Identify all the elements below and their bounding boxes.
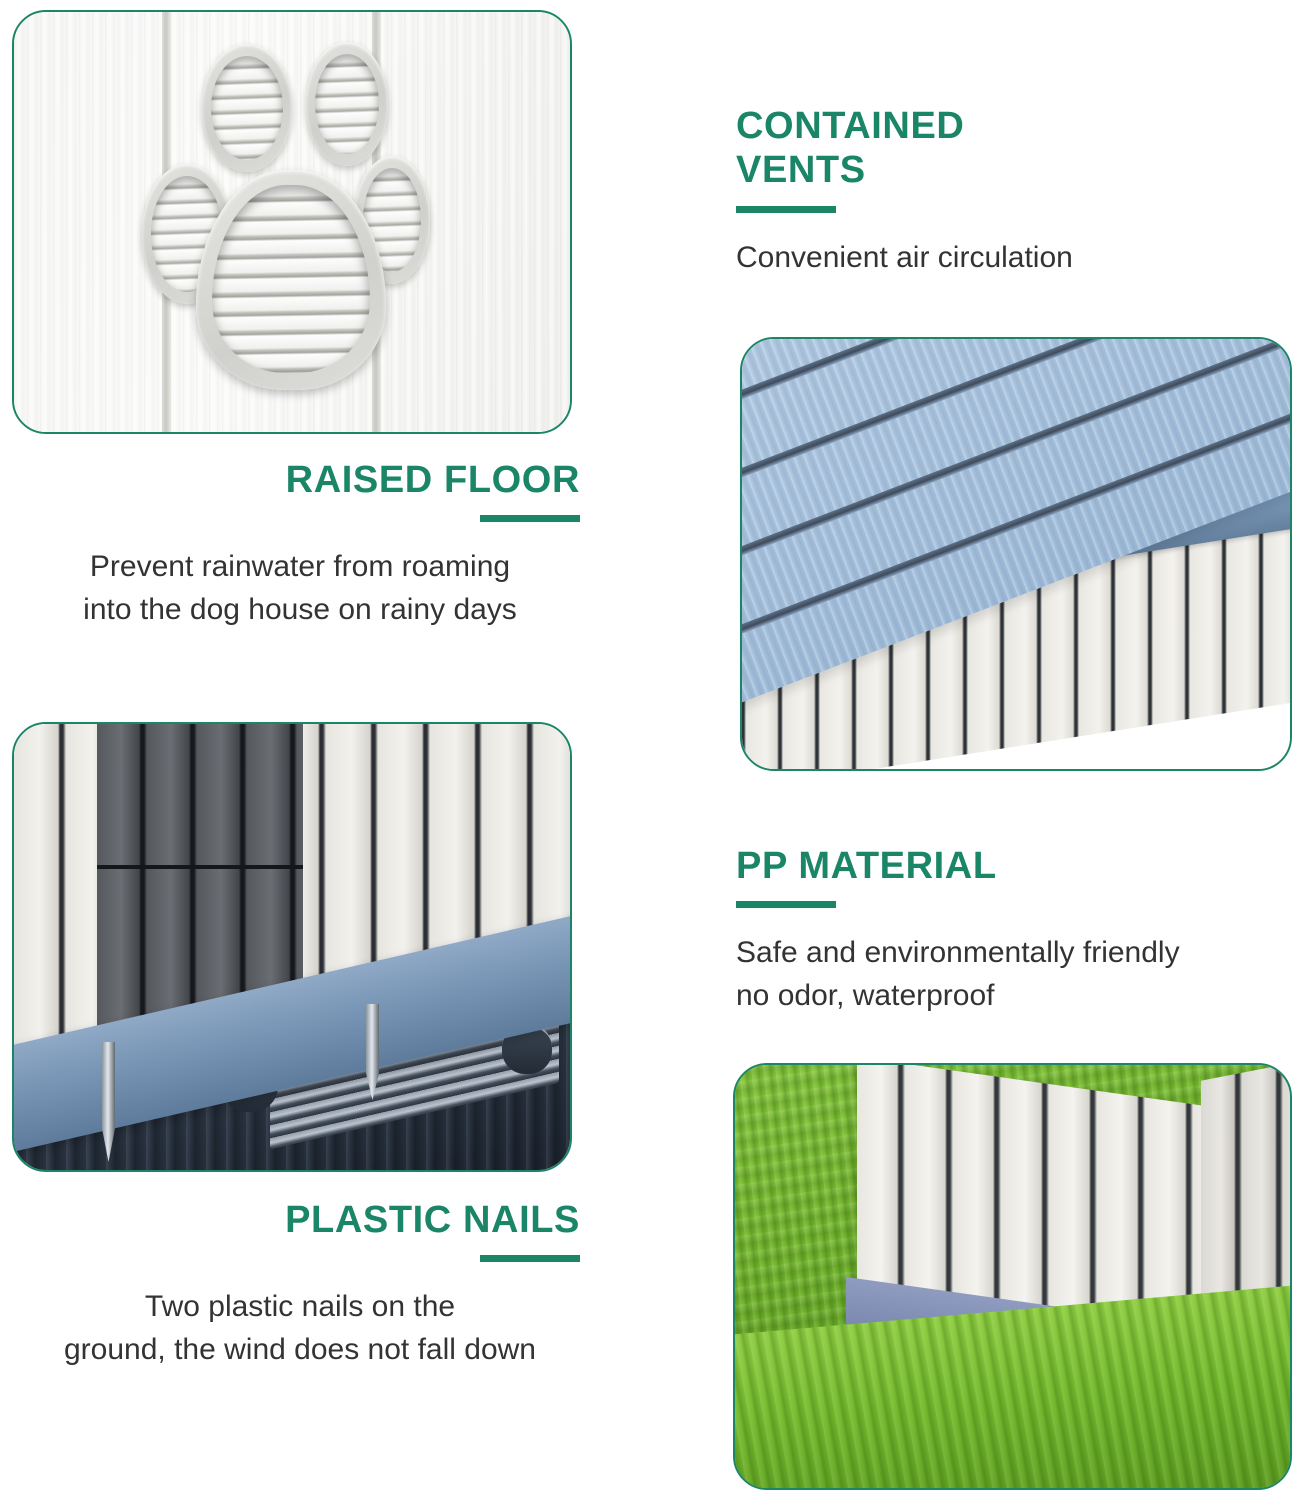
- paw-vent-artwork: [14, 12, 570, 432]
- feature-text-pp-material: PP MATERIAL Safe and environmentally fri…: [736, 844, 1292, 1018]
- vent-louvre-slats: [211, 56, 283, 160]
- feature-heading: PLASTIC NAILS: [20, 1198, 580, 1242]
- heading-divider: [736, 901, 836, 908]
- feature-heading: PP MATERIAL: [736, 844, 1292, 888]
- feature-text-contained-vents: CONTAINED VENTS Convenient air circulati…: [736, 104, 1292, 280]
- vent-louvre-slats: [315, 54, 379, 154]
- grass-artwork: [735, 1065, 1290, 1488]
- dog-house-base-on-grass-photo: [733, 1063, 1292, 1490]
- vent-toe-upper-right: [306, 42, 388, 166]
- heading-divider: [480, 1255, 580, 1262]
- plastic-nails-artwork: [14, 724, 570, 1170]
- roof-artwork: [742, 339, 1290, 769]
- heading-divider: [480, 515, 580, 522]
- feature-text-plastic-nails: PLASTIC NAILS Two plastic nails on the g…: [20, 1198, 580, 1372]
- paw-shaped-vent-photo: [12, 10, 572, 434]
- feature-description: Convenient air circulation: [736, 237, 1292, 280]
- blue-plank-roof-corner-photo: [740, 337, 1292, 771]
- plastic-nails-under-base-photo: [12, 722, 572, 1172]
- feature-description: Prevent rainwater from roaming into the …: [20, 546, 580, 631]
- feature-heading: CONTAINED VENTS: [736, 104, 1292, 193]
- infographic-page: CONTAINED VENTS Convenient air circulati…: [0, 0, 1304, 1500]
- vent-louvre-slats: [212, 185, 370, 373]
- feature-text-raised-floor: RAISED FLOOR Prevent rainwater from roam…: [20, 458, 580, 632]
- paw-vent-group: [14, 12, 570, 432]
- feature-description: Safe and environmentally friendly no odo…: [736, 932, 1292, 1017]
- feature-heading: RAISED FLOOR: [20, 458, 580, 502]
- feature-description: Two plastic nails on the ground, the win…: [20, 1286, 580, 1371]
- heading-divider: [736, 206, 836, 213]
- vent-toe-upper-left: [202, 44, 292, 172]
